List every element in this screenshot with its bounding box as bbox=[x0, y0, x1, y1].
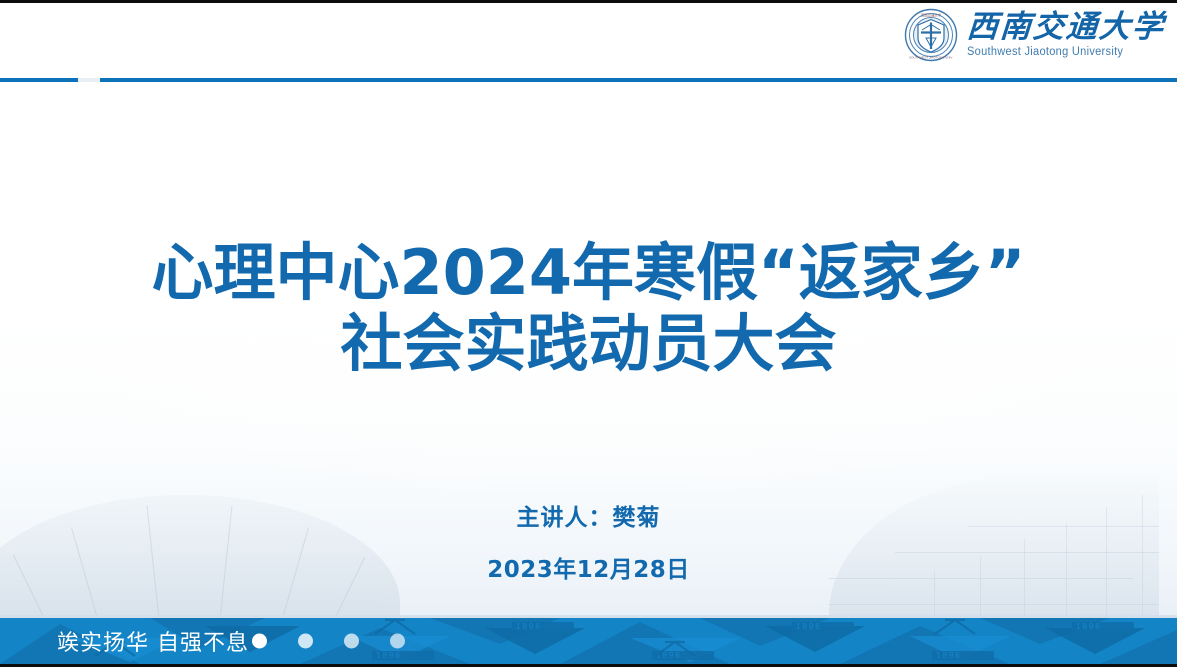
svg-text:1896: 1896 bbox=[1076, 622, 1102, 631]
header-rule-gap bbox=[78, 78, 100, 82]
footer-dot-1 bbox=[252, 634, 267, 649]
svg-text:1896: 1896 bbox=[796, 622, 822, 631]
title-line-1: 心理中心2024年寒假“返家乡” bbox=[0, 238, 1177, 309]
footer-dot-4 bbox=[390, 634, 405, 649]
slide-title: 心理中心2024年寒假“返家乡” 社会实践动员大会 bbox=[0, 238, 1177, 379]
slide-footer: 1896 1896 1896 1896 1896 1896 竢实扬华 自强不息 bbox=[0, 618, 1177, 664]
svg-text:1896: 1896 bbox=[516, 622, 542, 631]
date-label: 2023年12月28日 bbox=[0, 550, 1177, 584]
presentation-slide: 西南交通大学 SOUTHWEST JIAOTONG UNIV. 西南交通大学 S… bbox=[0, 0, 1177, 667]
slide-top-edge bbox=[0, 0, 1177, 3]
svg-text:1896: 1896 bbox=[936, 651, 962, 660]
logo-name-en: Southwest Jiaotong University bbox=[967, 47, 1123, 59]
university-logo: 西南交通大学 SOUTHWEST JIAOTONG UNIV. 西南交通大学 S… bbox=[904, 8, 1165, 62]
header-accent-rule bbox=[0, 78, 1177, 82]
footer-dot-2 bbox=[298, 634, 313, 649]
svg-text:1896: 1896 bbox=[376, 651, 402, 660]
footer-dot-3 bbox=[344, 634, 359, 649]
logo-wordmark: 西南交通大学 Southwest Jiaotong University bbox=[967, 11, 1165, 59]
logo-name-cn: 西南交通大学 bbox=[966, 11, 1166, 42]
swjtu-seal-icon: 西南交通大学 SOUTHWEST JIAOTONG UNIV. bbox=[904, 8, 958, 62]
svg-text:SOUTHWEST JIAOTONG UNIV.: SOUTHWEST JIAOTONG UNIV. bbox=[909, 56, 953, 60]
speaker-label: 主讲人：樊菊 bbox=[0, 498, 1177, 532]
slide-header: 西南交通大学 SOUTHWEST JIAOTONG UNIV. 西南交通大学 S… bbox=[0, 0, 1177, 82]
svg-text:西南交通大学: 西南交通大学 bbox=[921, 12, 942, 17]
footer-motto: 竢实扬华 自强不息 bbox=[57, 625, 249, 657]
footer-dot-group bbox=[252, 634, 405, 649]
slide-meta: 主讲人：樊菊 2023年12月28日 bbox=[0, 498, 1177, 584]
title-line-2: 社会实践动员大会 bbox=[0, 309, 1177, 380]
